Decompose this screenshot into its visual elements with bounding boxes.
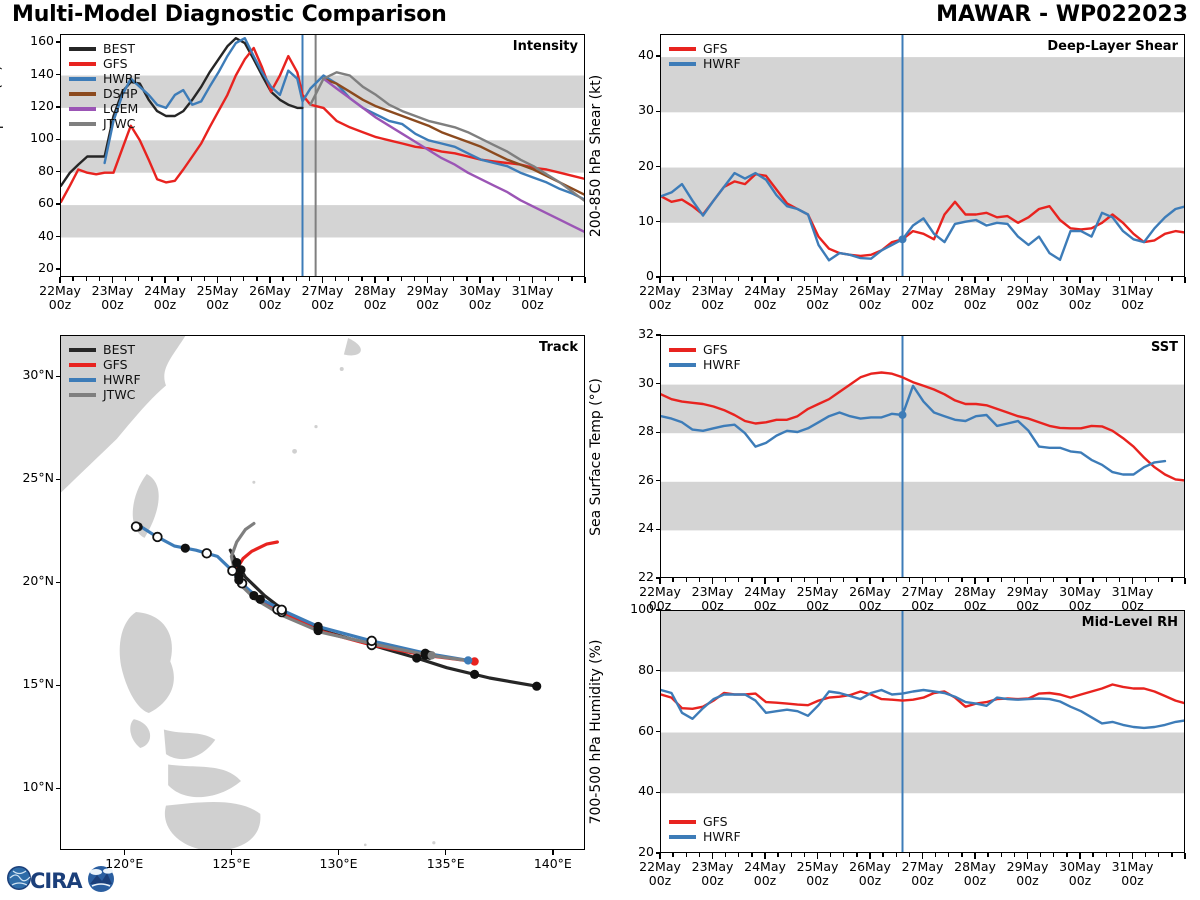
legend-label-gfs: GFS	[703, 41, 728, 56]
legend-label-gfs: GFS	[103, 357, 128, 372]
legend-label-best: BEST	[103, 342, 135, 357]
legend-label-hwrf: HWRF	[103, 71, 141, 86]
panel-label-rh: Mid-Level RH	[1082, 615, 1178, 630]
xtick-mark	[1119, 853, 1120, 857]
legend-item-gfs: GFS	[69, 357, 141, 372]
legend-item-lgem: LGEM	[69, 101, 141, 116]
xtick-mark	[987, 853, 988, 857]
ytick-rh-80: 80	[610, 662, 654, 677]
legend-item-hwrf: HWRF	[669, 56, 741, 71]
legend-label-hwrf: HWRF	[703, 829, 741, 844]
legend-swatch-jtwc	[69, 122, 96, 126]
xtick-mark	[764, 853, 765, 859]
xtick-mark	[659, 853, 660, 859]
xtick-mark	[672, 853, 673, 857]
legend-swatch-hwrf	[669, 62, 696, 66]
legend-swatch-hwrf	[69, 378, 96, 382]
legend-swatch-jtwc	[69, 393, 96, 397]
panel-mid-level-rh: Mid-Level RHGFSHWRF2040608010022May00z23…	[0, 0, 1200, 900]
xtick-mark	[896, 853, 897, 857]
ylabel-rh: 700-500 hPa Humidity (%)	[588, 639, 604, 824]
xtick-mark	[909, 853, 910, 857]
legend-rh: GFSHWRF	[669, 814, 741, 844]
panel-label-sst: SST	[1151, 340, 1178, 355]
xtick-rh-9: 31May00z	[1098, 860, 1168, 889]
legend-swatch-best	[69, 47, 96, 51]
xtick-mark	[1171, 853, 1172, 857]
ytick-mark	[656, 609, 661, 610]
legend-label-best: BEST	[103, 41, 135, 56]
ytick-mark	[656, 731, 661, 732]
legend-label-jtwc: JTWC	[103, 387, 135, 402]
ytick-rh-40: 40	[610, 783, 654, 798]
xtick-mark	[974, 853, 975, 859]
legend-label-gfs: GFS	[703, 342, 728, 357]
legend-swatch-hwrf	[669, 835, 696, 839]
xtick-mark	[843, 853, 844, 857]
xtick-mark	[791, 853, 792, 857]
xtick-mark	[869, 853, 870, 859]
xtick-mark	[922, 853, 923, 859]
xtick-mark	[817, 853, 818, 859]
legend-swatch-best	[69, 348, 96, 352]
legend-swatch-hwrf	[69, 77, 96, 81]
xtick-mark	[1184, 853, 1185, 859]
xtick-mark	[1079, 853, 1080, 859]
legend-item-jtwc: JTWC	[69, 116, 141, 131]
ytick-mark	[656, 670, 661, 671]
xtick-mark	[961, 853, 962, 857]
svg-text:CIRA: CIRA	[30, 869, 83, 893]
legend-item-jtwc: JTWC	[69, 387, 141, 402]
xtick-mark	[699, 853, 700, 857]
xtick-mark	[777, 853, 778, 857]
ytick-rh-60: 60	[610, 723, 654, 738]
legend-item-gfs: GFS	[69, 56, 141, 71]
legend-label-hwrf: HWRF	[703, 56, 741, 71]
xtick-mark	[1092, 853, 1093, 857]
xtick-mark	[1066, 853, 1067, 857]
legend-sst: GFSHWRF	[669, 342, 741, 372]
legend-swatch-lgem	[69, 107, 96, 111]
legend-label-gfs: GFS	[103, 56, 128, 71]
ytick-mark	[656, 792, 661, 793]
legend-label-gfs: GFS	[703, 814, 728, 829]
xtick-mark	[686, 853, 687, 857]
legend-item-hwrf: HWRF	[69, 71, 141, 86]
legend-item-best: BEST	[69, 41, 141, 56]
xtick-mark	[1040, 853, 1041, 857]
plot-area-rh: Mid-Level RHGFSHWRF	[660, 610, 1185, 853]
legend-shear: GFSHWRF	[669, 41, 741, 71]
legend-swatch-dshp	[69, 92, 96, 96]
ytick-rh-100: 100	[610, 601, 654, 616]
xtick-mark	[725, 853, 726, 857]
xtick-mark	[1001, 853, 1002, 857]
legend-swatch-gfs	[669, 820, 696, 824]
legend-swatch-gfs	[69, 62, 96, 66]
xtick-mark	[1158, 853, 1159, 857]
xtick-mark	[712, 853, 713, 859]
xtick-mark	[1132, 853, 1133, 859]
legend-intensity: BESTGFSHWRFDSHPLGEMJTWC	[69, 41, 141, 131]
xtick-mark	[1014, 853, 1015, 857]
xtick-mark	[1106, 853, 1107, 857]
legend-label-dshp: DSHP	[103, 86, 138, 101]
legend-item-best: BEST	[69, 342, 141, 357]
panel-label-track: Track	[539, 340, 578, 355]
legend-item-dshp: DSHP	[69, 86, 141, 101]
legend-swatch-hwrf	[669, 363, 696, 367]
xtick-mark	[830, 853, 831, 857]
legend-swatch-gfs	[669, 348, 696, 352]
xtick-mark	[1053, 853, 1054, 857]
panel-label-shear: Deep-Layer Shear	[1047, 39, 1178, 54]
legend-item-hwrf: HWRF	[69, 372, 141, 387]
legend-item-gfs: GFS	[669, 41, 741, 56]
legend-label-hwrf: HWRF	[703, 357, 741, 372]
xtick-mark	[751, 853, 752, 857]
xtick-mark	[882, 853, 883, 857]
cira-logo: CIRA	[4, 858, 122, 898]
legend-item-hwrf: HWRF	[669, 829, 741, 844]
panel-label-intensity: Intensity	[513, 39, 578, 54]
ytick-rh-20: 20	[610, 844, 654, 859]
legend-swatch-gfs	[69, 363, 96, 367]
legend-track: BESTGFSHWRFJTWC	[69, 342, 141, 402]
legend-item-gfs: GFS	[669, 342, 741, 357]
xtick-mark	[856, 853, 857, 857]
legend-item-hwrf: HWRF	[669, 357, 741, 372]
legend-label-jtwc: JTWC	[103, 116, 135, 131]
legend-item-gfs: GFS	[669, 814, 741, 829]
figure-canvas: Multi-Model Diagnostic Comparison MAWAR …	[0, 0, 1200, 900]
legend-label-hwrf: HWRF	[103, 372, 141, 387]
xtick-mark	[1027, 853, 1028, 859]
xtick-mark	[948, 853, 949, 857]
xtick-mark	[935, 853, 936, 857]
xtick-mark	[738, 853, 739, 857]
legend-swatch-gfs	[669, 47, 696, 51]
xtick-mark	[1145, 853, 1146, 857]
legend-label-lgem: LGEM	[103, 101, 138, 116]
xtick-mark	[804, 853, 805, 857]
